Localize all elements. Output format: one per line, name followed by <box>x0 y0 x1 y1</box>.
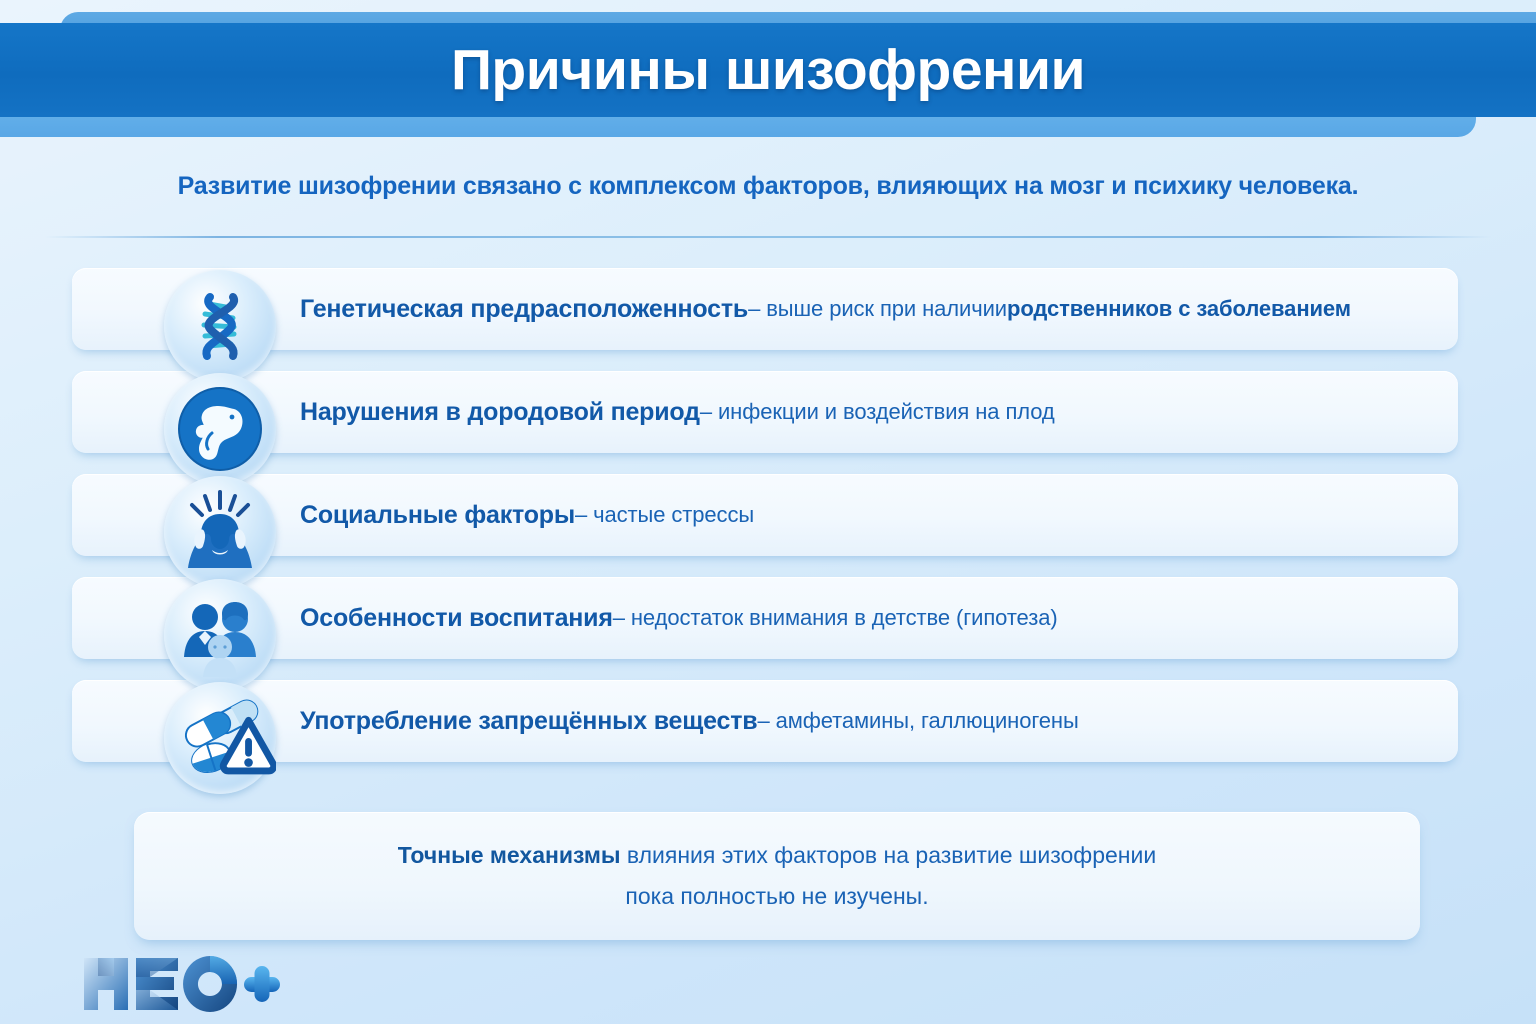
list-item[interactable]: Употребление запрещённых веществ – амфет… <box>0 680 1536 778</box>
row-desc: – амфетамины, галлюциногены <box>757 708 1078 734</box>
row-title: Нарушения в дородовой период <box>300 398 700 427</box>
logo[interactable] <box>82 952 282 1014</box>
list-item[interactable]: Генетическая предрасположенность – выше … <box>0 268 1536 366</box>
footnote-box: Точные механизмы влияния этих факторов н… <box>134 812 1420 940</box>
row-text: Генетическая предрасположенность – выше … <box>300 268 1351 350</box>
footnote-rest: влияния этих факторов на развитие шизофр… <box>621 842 1157 868</box>
stress-head-icon <box>164 476 276 588</box>
row-title: Употребление запрещённых веществ <box>300 707 757 736</box>
row-desc: – недостаток внимания в детстве (гипотез… <box>613 605 1058 631</box>
header: Причины шизофрении <box>0 0 1536 145</box>
row-text: Употребление запрещённых веществ – амфет… <box>300 680 1079 762</box>
row-text: Нарушения в дородовой период – инфекции … <box>300 371 1055 453</box>
footnote-line-2: пока полностью не изучены. <box>625 883 928 910</box>
list-item[interactable]: Нарушения в дородовой период – инфекции … <box>0 371 1536 469</box>
list-item[interactable]: Социальные факторы – частые стрессы <box>0 474 1536 572</box>
row-desc: – инфекции и воздействия на плод <box>700 399 1055 425</box>
family-icon <box>164 579 276 691</box>
dna-icon <box>164 270 276 382</box>
page-title: Причины шизофрении <box>0 23 1536 117</box>
row-text: Социальные факторы – частые стрессы <box>300 474 754 556</box>
intro-text: Развитие шизофрении связано с комплексом… <box>0 172 1536 201</box>
row-desc: – частые стрессы <box>575 502 754 528</box>
divider <box>45 236 1491 238</box>
factor-list: Генетическая предрасположенность – выше … <box>0 268 1536 783</box>
row-title: Особенности воспитания <box>300 604 613 633</box>
footnote-emph: Точные механизмы <box>398 842 621 868</box>
list-item[interactable]: Особенности воспитания – недостаток вним… <box>0 577 1536 675</box>
row-desc-emph: родственников с заболеванием <box>1007 296 1351 322</box>
row-text: Особенности воспитания – недостаток вним… <box>300 577 1058 659</box>
row-title: Генетическая предрасположенность <box>300 295 748 324</box>
fetus-icon <box>164 373 276 485</box>
footnote-line-1: Точные механизмы влияния этих факторов н… <box>398 842 1156 869</box>
logo-mark <box>82 952 282 1014</box>
pills-warning-icon <box>164 682 276 794</box>
row-desc: – выше риск при наличии <box>748 296 1007 322</box>
row-card <box>72 474 1458 556</box>
row-title: Социальные факторы <box>300 501 575 530</box>
